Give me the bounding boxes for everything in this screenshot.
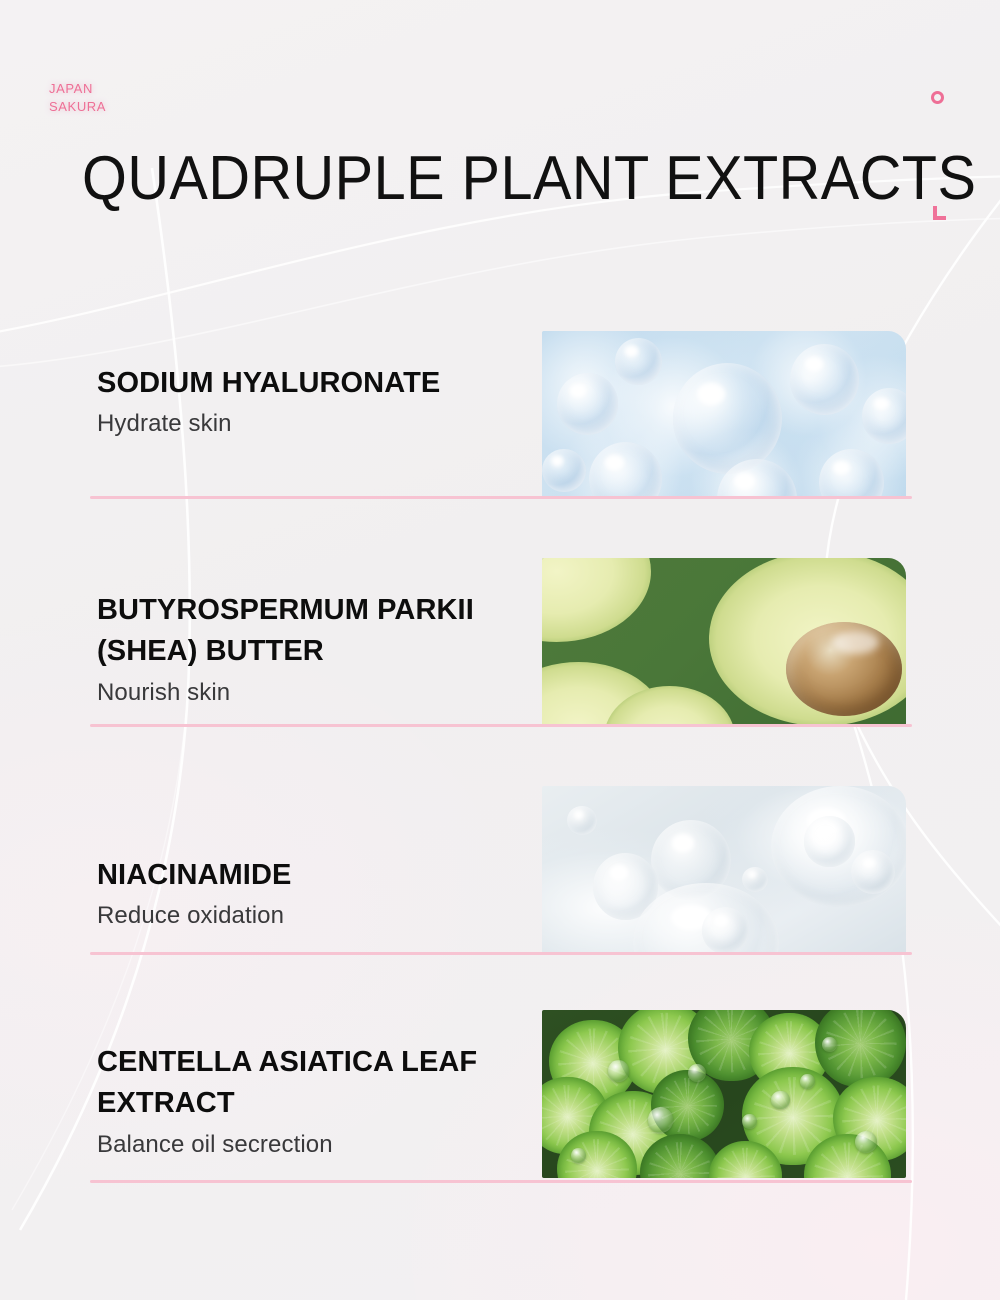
ingredient-name: SODIUM HYALURONATE [97, 363, 527, 404]
brand-line-two: SAKURA [49, 98, 106, 116]
ingredient-name: CENTELLA ASIATICA LEAF EXTRACT [97, 1042, 527, 1125]
centella-leaves-image [542, 1010, 906, 1178]
water-bubbles-image [542, 331, 906, 499]
brand-mark: JAPAN SAKURA [49, 80, 106, 117]
clear-gel-image [542, 786, 906, 954]
ingredient-name: NIACINAMIDE [97, 855, 527, 896]
row-divider [90, 724, 912, 727]
corner-bracket-icon [933, 206, 946, 220]
ingredient-name: BUTYROSPERMUM PARKII (SHEA) BUTTER [97, 590, 527, 673]
ingredient-text-block: SODIUM HYALURONATE Hydrate skin [97, 363, 527, 440]
circle-outline-icon [931, 91, 944, 104]
row-divider [90, 952, 912, 955]
ingredient-description: Reduce oxidation [97, 900, 527, 931]
avocado-image [542, 558, 906, 726]
row-divider [90, 1180, 912, 1183]
ingredient-description: Balance oil secrection [97, 1129, 527, 1160]
row-divider [90, 496, 912, 499]
ingredient-description: Hydrate skin [97, 408, 527, 439]
product-ingredient-infographic: JAPAN SAKURA QUADRUPLE PLANT EXTRACTS SO… [0, 0, 1000, 1300]
ingredient-description: Nourish skin [97, 677, 527, 708]
page-title: QUADRUPLE PLANT EXTRACTS [82, 148, 976, 210]
brand-line-one: JAPAN [49, 80, 106, 98]
ingredient-text-block: NIACINAMIDE Reduce oxidation [97, 855, 527, 932]
ingredient-text-block: CENTELLA ASIATICA LEAF EXTRACT Balance o… [97, 1042, 527, 1160]
ingredient-text-block: BUTYROSPERMUM PARKII (SHEA) BUTTER Nouri… [97, 590, 527, 708]
